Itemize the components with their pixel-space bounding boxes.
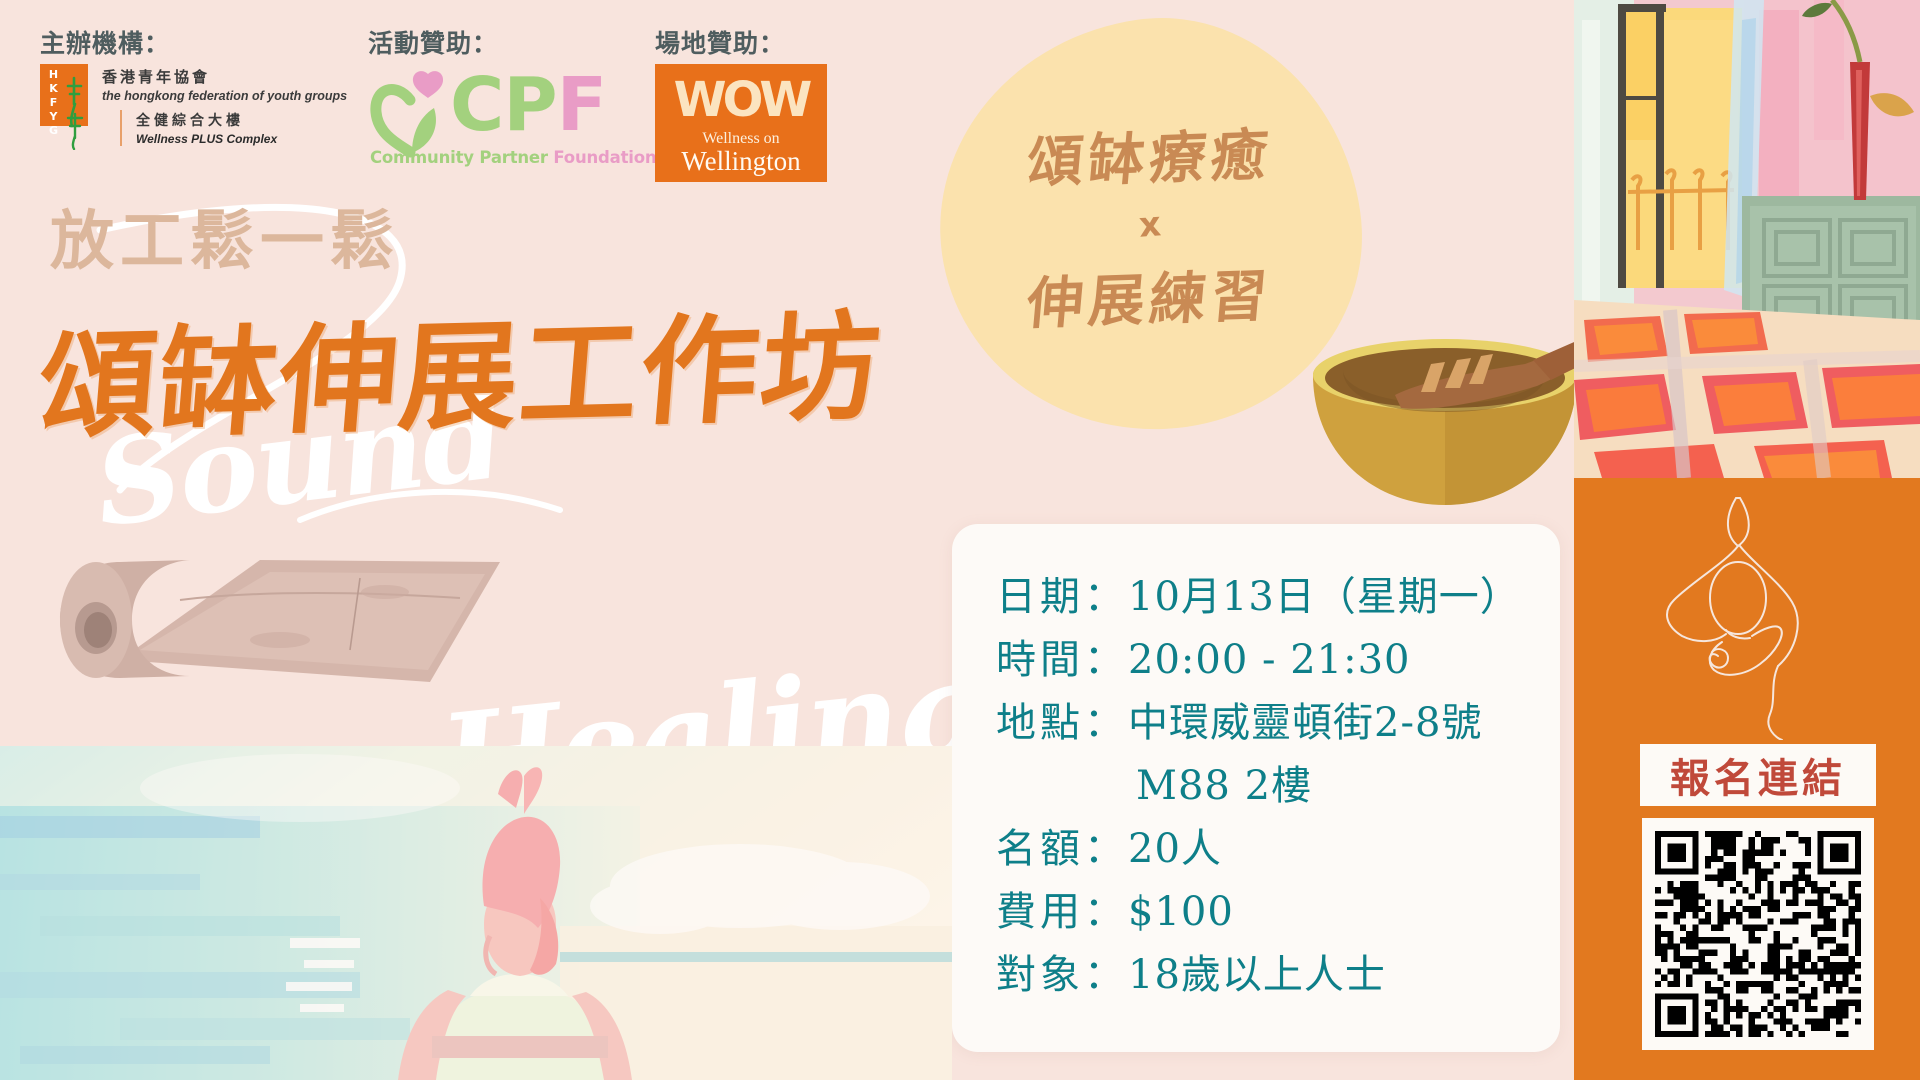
- interior-room-painting-art: [1574, 0, 1920, 478]
- woman-facing-sea-painting: [0, 746, 952, 1080]
- wow-wordmark: WOW: [655, 76, 827, 124]
- poster-root: 主辦機構： HKFYG 香港青年協會 the hongkong federati…: [0, 0, 1920, 1080]
- cpf-letter-f: F: [557, 62, 607, 148]
- info-label: 地點：: [996, 700, 1128, 746]
- blob-line-2: 伸展練習: [1024, 251, 1276, 340]
- hkfyg-name-en: the hongkong federation of youth groups: [102, 89, 347, 103]
- cpf-tagline-green: Community Partner: [370, 148, 553, 167]
- info-row-continuation: M88 2樓: [996, 755, 1560, 818]
- wow-line2: Wellington: [655, 146, 827, 176]
- info-value: $100: [1128, 889, 1234, 935]
- info-value: 18歲以上人士: [1128, 952, 1386, 998]
- hkfyg-mark-text: HKFYG: [45, 68, 61, 124]
- blob-cross: x: [1138, 204, 1163, 245]
- rolled-yoga-mat-illustration: [30, 500, 610, 700]
- info-label: 對象：: [996, 952, 1128, 998]
- info-label: 名額：: [996, 826, 1128, 872]
- hkfyg-subunit-en: Wellness PLUS Complex: [136, 132, 277, 146]
- cpf-letter-c: C: [450, 62, 503, 148]
- info-value: 中環威靈頓街2-8號: [1128, 700, 1482, 746]
- info-row: 日期：10月13日（星期一）: [996, 566, 1560, 629]
- info-label: 時間：: [996, 637, 1128, 683]
- info-value: 20:00 - 21:30: [1128, 637, 1411, 683]
- sponsor-event-heading: 活動贊助：: [368, 24, 498, 60]
- info-value: M88 2樓: [1136, 763, 1312, 809]
- info-label: 日期：: [996, 574, 1128, 620]
- cpf-plant-heart-icon: [366, 66, 462, 158]
- cpf-logo: CPF Community Partner Foundation: [368, 64, 598, 169]
- hkfyg-green-calligraphy-icon: [62, 74, 90, 150]
- info-row: 名額：20人: [996, 818, 1560, 881]
- registration-link-badge[interactable]: 報名連結: [1640, 744, 1876, 806]
- event-info-card: 日期：10月13日（星期一） 時間：20:00 - 21:30 地點：中環威靈頓…: [952, 524, 1560, 1052]
- title-main: 頌缽伸展工作坊: [34, 308, 885, 446]
- interior-room-painting: [1574, 0, 1920, 478]
- qr-code-image[interactable]: [1655, 831, 1861, 1037]
- info-value: 20人: [1128, 826, 1222, 872]
- blob-line-1: 頌缽療癒: [1024, 110, 1276, 199]
- cpf-tagline: Community Partner Foundation: [370, 148, 656, 167]
- hkfyg-subunit: 全健綜合大樓 Wellness PLUS Complex: [120, 110, 277, 146]
- cpf-letters: CPF: [450, 68, 606, 142]
- hkfyg-name-cn: 香港青年協會: [102, 66, 347, 87]
- qr-code-box[interactable]: [1642, 818, 1874, 1050]
- info-row: 地點：中環威靈頓街2-8號: [996, 692, 1560, 755]
- hkfyg-subunit-cn: 全健綜合大樓: [136, 110, 277, 130]
- cpf-tagline-pink: Foundation: [553, 148, 656, 167]
- info-value: 10月13日（星期一）: [1128, 574, 1521, 620]
- sponsor-event: 活動贊助： CPF Community Partner Foundation: [368, 24, 498, 60]
- sponsor-venue: 場地贊助： WOW Wellness on Wellington: [655, 24, 785, 60]
- info-row: 對象：18歲以上人士: [996, 944, 1560, 1007]
- info-row: 費用：$100: [996, 881, 1560, 944]
- info-label: 費用：: [996, 889, 1128, 935]
- info-row: 時間：20:00 - 21:30: [996, 629, 1560, 692]
- sponsor-organiser-heading: 主辦機構：: [40, 24, 170, 60]
- cpf-letter-p: P: [503, 62, 556, 148]
- title-subtitle: 放工鬆一鬆: [50, 210, 400, 274]
- woman-facing-sea-art: [0, 746, 952, 1080]
- wow-logo: WOW Wellness on Wellington: [655, 64, 827, 182]
- sponsor-bar: 主辦機構： HKFYG 香港青年協會 the hongkong federati…: [0, 0, 960, 200]
- registration-link-label: 報名連結: [1670, 746, 1846, 804]
- meditating-figure-line-art-icon: [1640, 490, 1870, 740]
- hkfyg-names: 香港青年協會 the hongkong federation of youth …: [102, 66, 347, 103]
- hkfyg-logo: HKFYG 香港青年協會 the hongkong federation of …: [40, 64, 370, 154]
- sponsor-venue-heading: 場地贊助：: [655, 24, 785, 60]
- sponsor-organiser: 主辦機構： HKFYG 香港青年協會 the hongkong federati…: [40, 24, 170, 60]
